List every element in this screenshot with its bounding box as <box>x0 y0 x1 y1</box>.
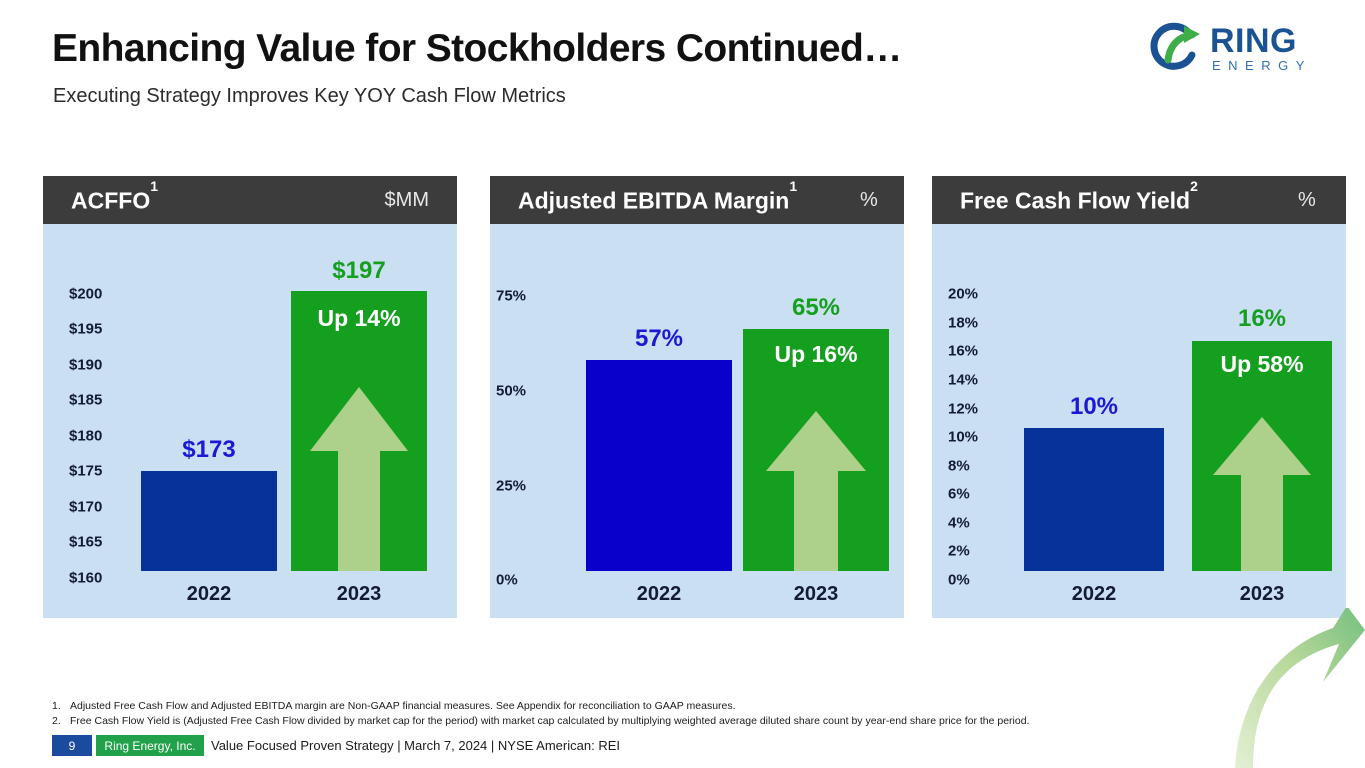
plot-area: 10% 16% Up 58% 2022 2023 <box>1020 224 1332 618</box>
x-axis-label: 2022 <box>141 583 277 606</box>
brand-logo: RING ENERGY <box>1148 18 1323 78</box>
bar-value-label: $197 <box>291 257 427 285</box>
footnote-item: 2. Free Cash Flow Yield is (Adjusted Fre… <box>52 714 1302 729</box>
y-axis: 20% 18% 16% 14% 12% 10% 8% 6% 4% 2% 0% <box>948 224 1006 618</box>
up-arrow-icon <box>760 405 872 571</box>
card-header: Adjusted EBITDA Margin1 % <box>490 176 904 224</box>
company-name-badge: Ring Energy, Inc. <box>96 735 204 756</box>
y-axis: $200 $195 $190 $185 $180 $175 $170 $165 … <box>69 224 131 618</box>
card-title: Free Cash Flow Yield2 <box>960 187 1198 215</box>
x-axis-label: 2022 <box>1024 583 1164 606</box>
ring-arrow-icon <box>1148 22 1204 72</box>
bar-2022 <box>586 360 732 571</box>
bar-group-2023: 16% Up 58% <box>1192 241 1332 571</box>
card-title: ACFFO1 <box>71 187 158 215</box>
y-tick: 6% <box>948 486 970 503</box>
page-title: Enhancing Value for Stockholders Continu… <box>52 27 902 71</box>
y-tick: 8% <box>948 458 970 475</box>
logo-tagline: ENERGY <box>1212 58 1312 73</box>
footnote-item: 1. Adjusted Free Cash Flow and Adjusted … <box>52 699 1302 714</box>
chart-card-adjusted-ebitda-margin: Adjusted EBITDA Margin1 % 75% 50% 25% 0%… <box>490 176 904 618</box>
x-label-group-2022: 2022 <box>1024 571 1164 618</box>
y-tick: 25% <box>496 478 526 495</box>
bar-2022 <box>141 471 277 571</box>
y-tick: $185 <box>69 392 102 409</box>
footnotes: 1. Adjusted Free Cash Flow and Adjusted … <box>52 699 1302 728</box>
bar-value-label: 57% <box>586 325 732 353</box>
card-unit-label: % <box>1298 189 1316 212</box>
bar-2023: Up 58% <box>1192 341 1332 571</box>
y-tick: 4% <box>948 515 970 532</box>
y-axis: 75% 50% 25% 0% <box>496 224 552 618</box>
logo-wordmark: RING <box>1210 22 1297 61</box>
card-body: 20% 18% 16% 14% 12% 10% 8% 6% 4% 2% 0% 1… <box>932 224 1346 618</box>
card-title-footnote-ref: 2 <box>1190 178 1198 194</box>
card-title-text: ACFFO <box>71 188 150 214</box>
footnote-number: 2. <box>52 714 64 729</box>
x-label-group-2022: 2022 <box>141 571 277 618</box>
y-tick: 10% <box>948 429 978 446</box>
bar-2022 <box>1024 428 1164 571</box>
plot-area: 57% 65% Up 16% 2022 2023 <box>578 224 890 618</box>
y-tick: $190 <box>69 357 102 374</box>
card-title-text: Adjusted EBITDA Margin <box>518 188 789 214</box>
y-tick: 0% <box>948 572 970 589</box>
page-number-badge: 9 <box>52 735 92 756</box>
bar-value-label: 16% <box>1192 305 1332 333</box>
bar-group-2023: $197 Up 14% <box>291 241 427 571</box>
card-header: Free Cash Flow Yield2 % <box>932 176 1346 224</box>
y-tick: $175 <box>69 463 102 480</box>
x-axis-label: 2022 <box>586 583 732 606</box>
bar-uplift-label: Up 16% <box>743 341 889 368</box>
x-label-group-2022: 2022 <box>586 571 732 618</box>
card-unit-label: $MM <box>385 189 429 212</box>
bar-value-label: 65% <box>743 294 889 322</box>
footnote-text: Free Cash Flow Yield is (Adjusted Free C… <box>70 714 1029 729</box>
bar-2023: Up 14% <box>291 291 427 571</box>
card-title: Adjusted EBITDA Margin1 <box>518 187 797 215</box>
decorative-curved-up-arrow-icon <box>1235 608 1365 768</box>
bar-value-label: 10% <box>1024 393 1164 421</box>
card-unit-label: % <box>860 189 878 212</box>
up-arrow-icon <box>1207 411 1317 571</box>
card-title-footnote-ref: 1 <box>150 178 158 194</box>
page-subtitle: Executing Strategy Improves Key YOY Cash… <box>53 85 566 108</box>
y-tick: $160 <box>69 570 102 587</box>
bar-group-2023: 65% Up 16% <box>743 241 889 571</box>
chart-card-free-cash-flow-yield: Free Cash Flow Yield2 % 20% 18% 16% 14% … <box>932 176 1346 618</box>
bar-group-2022: $173 <box>141 241 277 571</box>
card-title-footnote-ref: 1 <box>789 178 797 194</box>
bar-uplift-label: Up 14% <box>291 305 427 332</box>
y-tick: $195 <box>69 321 102 338</box>
y-tick: 50% <box>496 383 526 400</box>
up-arrow-icon <box>304 381 414 571</box>
y-tick: 0% <box>496 572 518 589</box>
x-label-group-2023: 2023 <box>291 571 427 618</box>
card-body: 75% 50% 25% 0% 57% 65% Up 16% 2022 <box>490 224 904 618</box>
y-tick: 16% <box>948 343 978 360</box>
x-axis-label: 2023 <box>1192 583 1332 606</box>
y-tick: 20% <box>948 286 978 303</box>
x-label-group-2023: 2023 <box>743 571 889 618</box>
y-tick: 18% <box>948 315 978 332</box>
bar-uplift-label: Up 58% <box>1192 351 1332 378</box>
y-tick: $180 <box>69 428 102 445</box>
x-axis-label: 2023 <box>291 583 427 606</box>
bar-value-label: $173 <box>141 436 277 464</box>
y-tick: 2% <box>948 543 970 560</box>
y-tick: $200 <box>69 286 102 303</box>
footnote-text: Adjusted Free Cash Flow and Adjusted EBI… <box>70 699 736 714</box>
x-axis-label: 2023 <box>743 583 889 606</box>
bar-group-2022: 10% <box>1024 241 1164 571</box>
chart-card-acffo: ACFFO1 $MM $200 $195 $190 $185 $180 $175… <box>43 176 457 618</box>
bar-group-2022: 57% <box>586 241 732 571</box>
card-title-text: Free Cash Flow Yield <box>960 188 1190 214</box>
card-header: ACFFO1 $MM <box>43 176 457 224</box>
footnote-number: 1. <box>52 699 64 714</box>
y-tick: $170 <box>69 499 102 516</box>
y-tick: 14% <box>948 372 978 389</box>
bar-2023: Up 16% <box>743 329 889 571</box>
y-tick: $165 <box>69 534 102 551</box>
plot-area: $173 $197 Up 14% 2022 2023 <box>131 224 443 618</box>
y-tick: 12% <box>948 401 978 418</box>
y-tick: 75% <box>496 288 526 305</box>
card-body: $200 $195 $190 $185 $180 $175 $170 $165 … <box>43 224 457 618</box>
footer-tagline: Value Focused Proven Strategy | March 7,… <box>211 735 620 756</box>
